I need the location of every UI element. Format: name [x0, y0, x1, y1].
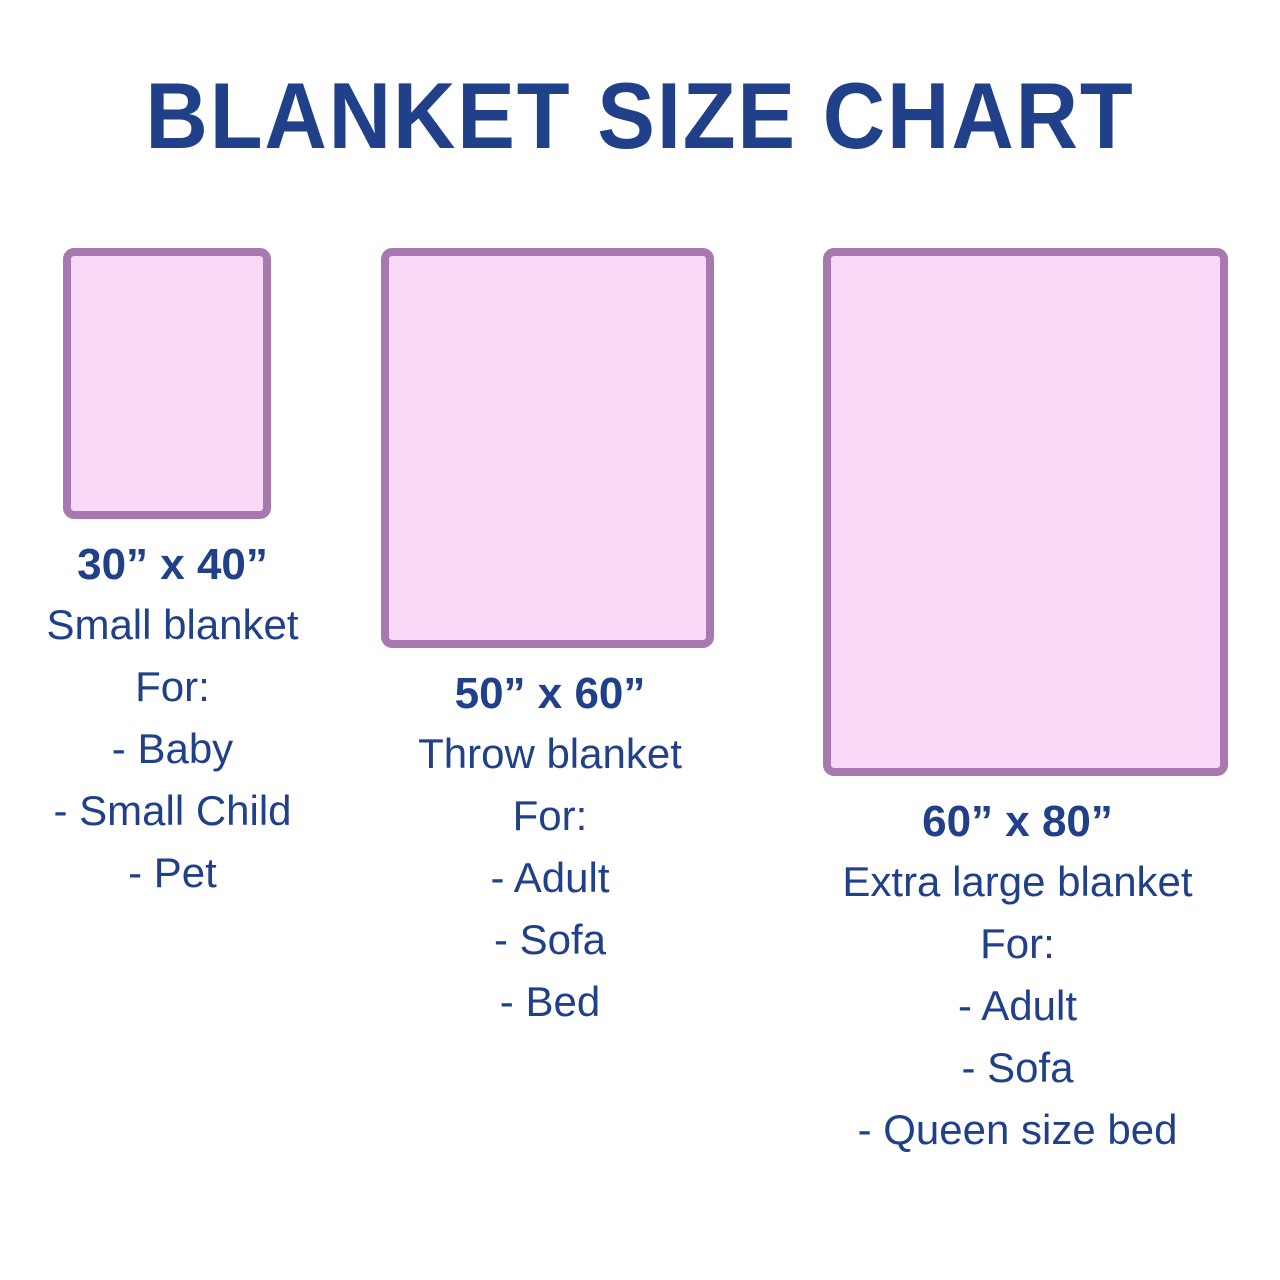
blanket-swatch-throw	[381, 248, 714, 648]
list-item: - Queen size bed	[755, 1099, 1280, 1161]
page-title: BLANKET SIZE CHART	[51, 66, 1229, 166]
blanket-swatch-extra-large	[823, 248, 1228, 776]
list-item: - Pet	[0, 842, 345, 904]
usage-title-throw: Throw blanket	[345, 723, 755, 785]
list-item: - Adult	[755, 975, 1280, 1037]
usage-title-small: Small blanket	[0, 594, 345, 656]
size-caption-throw: 50” x 60” Throw blanket For: - Adult - S…	[345, 665, 755, 1033]
usage-list-throw: - Adult - Sofa - Bed	[345, 847, 755, 1033]
list-item: - Sofa	[755, 1037, 1280, 1099]
list-item: - Sofa	[345, 909, 755, 971]
for-label-throw: For:	[345, 785, 755, 847]
list-item: - Baby	[0, 718, 345, 780]
for-label-small: For:	[0, 656, 345, 718]
list-item: - Small Child	[0, 780, 345, 842]
list-item: - Bed	[345, 971, 755, 1033]
usage-list-small: - Baby - Small Child - Pet	[0, 718, 345, 904]
dimension-label-small: 30” x 40”	[0, 536, 345, 594]
for-label-extra-large: For:	[755, 913, 1280, 975]
size-caption-small: 30” x 40” Small blanket For: - Baby - Sm…	[0, 536, 345, 904]
list-item: - Adult	[345, 847, 755, 909]
usage-list-extra-large: - Adult - Sofa - Queen size bed	[755, 975, 1280, 1161]
usage-title-extra-large: Extra large blanket	[755, 851, 1280, 913]
dimension-label-throw: 50” x 60”	[345, 665, 755, 723]
size-caption-extra-large: 60” x 80” Extra large blanket For: - Adu…	[755, 793, 1280, 1161]
dimension-label-extra-large: 60” x 80”	[755, 793, 1280, 851]
blanket-swatch-small	[63, 248, 271, 519]
blanket-size-chart: BLANKET SIZE CHART 30” x 40” Small blank…	[0, 0, 1280, 1280]
